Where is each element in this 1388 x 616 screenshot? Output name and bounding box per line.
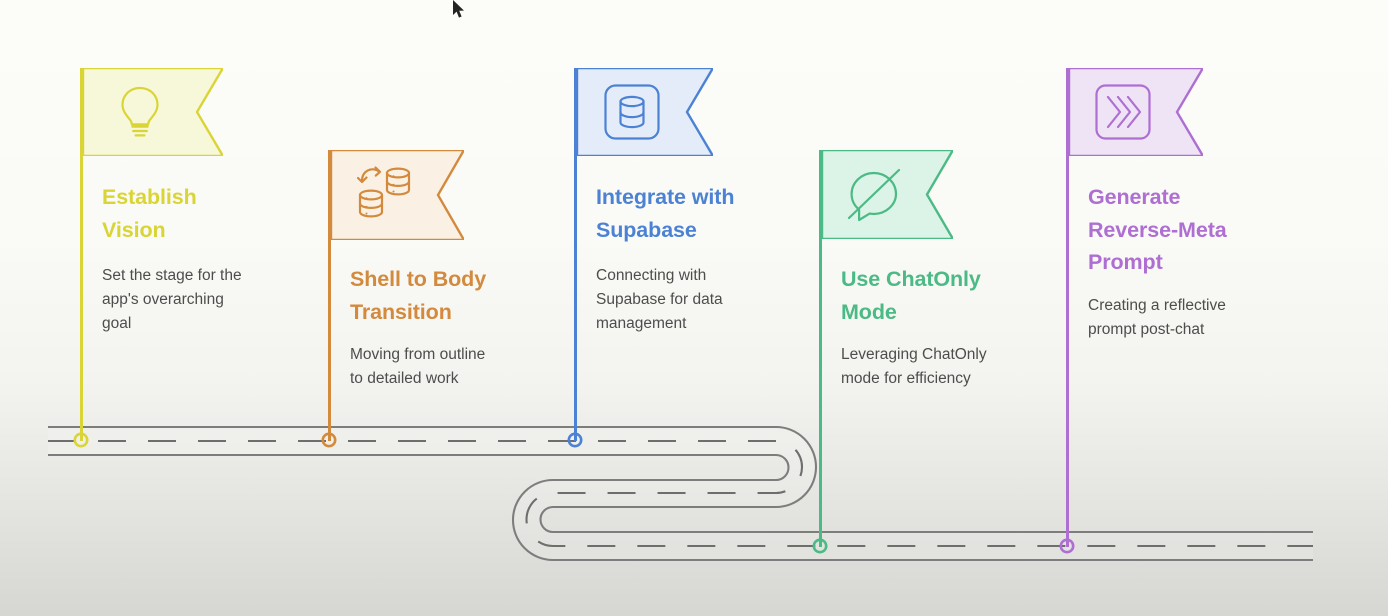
database-sync-icon [354, 164, 416, 226]
milestone-title: Integrate with Supabase [596, 181, 796, 246]
milestone-flag[interactable] [331, 150, 464, 240]
milestone-title: Shell to Body Transition [350, 263, 550, 328]
milestone-description: Creating a reflective prompt post-chat [1088, 294, 1298, 342]
fast-forward-chevrons-icon [1069, 68, 1177, 156]
lightbulb-icon [116, 85, 164, 139]
milestone-description: Set the stage for the app's overarching … [102, 264, 302, 337]
milestone-title: Generate Reverse-Meta Prompt [1088, 181, 1298, 279]
milestone-establish-vision[interactable] [80, 68, 300, 447]
milestone-flag[interactable] [1069, 68, 1203, 156]
milestone-description: Moving from outline to detailed work [350, 343, 550, 391]
milestone-description: Connecting with Supabase for data manage… [596, 264, 796, 337]
no-chat-bubble-icon [822, 150, 927, 239]
database-box-icon [603, 83, 661, 141]
database-sync-icon [331, 150, 438, 240]
milestone-title: Use ChatOnly Mode [841, 263, 1046, 328]
fast-forward-chevrons-icon [1094, 83, 1152, 141]
lightbulb-icon [83, 68, 197, 156]
milestone-description: Leveraging ChatOnly mode for efficiency [841, 343, 1046, 391]
milestone-flag[interactable] [822, 150, 953, 239]
milestone-flag[interactable] [83, 68, 223, 156]
roadmap-canvas: Establish VisionSet the stage for the ap… [0, 0, 1388, 616]
database-box-icon [577, 68, 687, 156]
milestone-integrate-with-supabase[interactable] [574, 68, 794, 447]
milestone-flag[interactable] [577, 68, 713, 156]
no-chat-bubble-icon [846, 168, 904, 222]
milestone-title: Establish Vision [102, 181, 302, 246]
